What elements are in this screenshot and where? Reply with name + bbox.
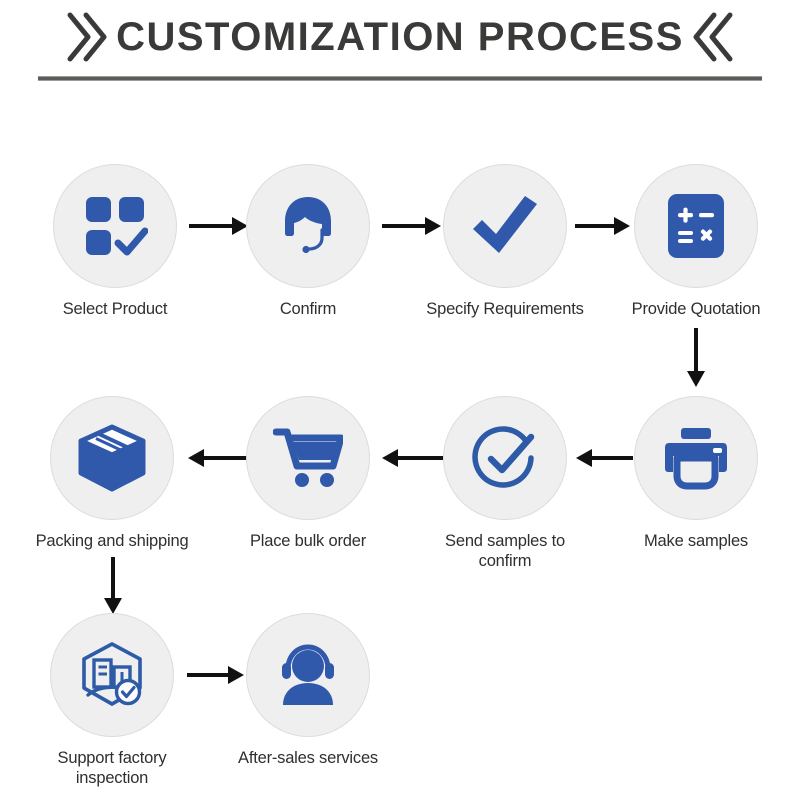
grid-squares-check-icon [82,193,148,259]
printer-icon [661,426,731,490]
step-circle [443,164,567,288]
step-label: Send samples to confirm [425,531,585,571]
step-node-send-samples-to-confirm[interactable]: Send samples to confirm [425,396,585,571]
shopping-cart-icon [273,426,343,490]
step-node-select-product[interactable]: Select Product [35,164,195,319]
connector-arrow-down-2 [99,556,127,616]
title-row: CUSTOMIZATION PROCESS [0,8,800,66]
step-node-place-bulk-order[interactable]: Place bulk order [228,396,388,551]
step-label: Specify Requirements [425,299,585,319]
step-circle [634,164,758,288]
double-chevron-right-icon [64,11,110,63]
step-circle [443,396,567,520]
step-circle [50,396,174,520]
step-label: Confirm [228,299,388,319]
support-agent-headset-icon [274,192,342,260]
step-label: Packing and shipping [32,531,192,551]
step-circle [53,164,177,288]
bold-checkmark-icon [469,193,541,259]
step-node-provide-quotation[interactable]: Provide Quotation [616,164,776,319]
step-node-packing-and-shipping[interactable]: Packing and shipping [32,396,192,551]
connector-arrow-down-1 [682,327,710,389]
factory-inspection-shield-icon [76,640,148,710]
step-label: Make samples [616,531,776,551]
title-divider [38,76,762,81]
infographic-page: CUSTOMIZATION PROCESS Select Product [0,0,800,800]
page-header: CUSTOMIZATION PROCESS [0,0,800,92]
step-node-specify-requirements[interactable]: Specify Requirements [425,164,585,319]
step-circle [634,396,758,520]
step-label: Support factory inspection [32,748,192,788]
step-node-make-samples[interactable]: Make samples [616,396,776,551]
step-label: Select Product [35,299,195,319]
calculator-icon [666,192,726,260]
circle-check-outline-icon [469,423,541,493]
step-node-after-sales-services[interactable]: After-sales services [228,613,388,768]
step-circle [246,164,370,288]
double-chevron-left-icon [690,11,736,63]
step-circle [246,613,370,737]
step-node-confirm[interactable]: Confirm [228,164,388,319]
step-label: Provide Quotation [616,299,776,319]
step-node-support-factory-inspection[interactable]: Support factory inspection [32,613,192,788]
step-circle [50,613,174,737]
step-label: Place bulk order [228,531,388,551]
step-label: After-sales services [228,748,388,768]
headphones-person-icon [273,643,343,707]
package-box-icon [77,423,147,493]
page-title: CUSTOMIZATION PROCESS [116,17,684,57]
step-circle [246,396,370,520]
